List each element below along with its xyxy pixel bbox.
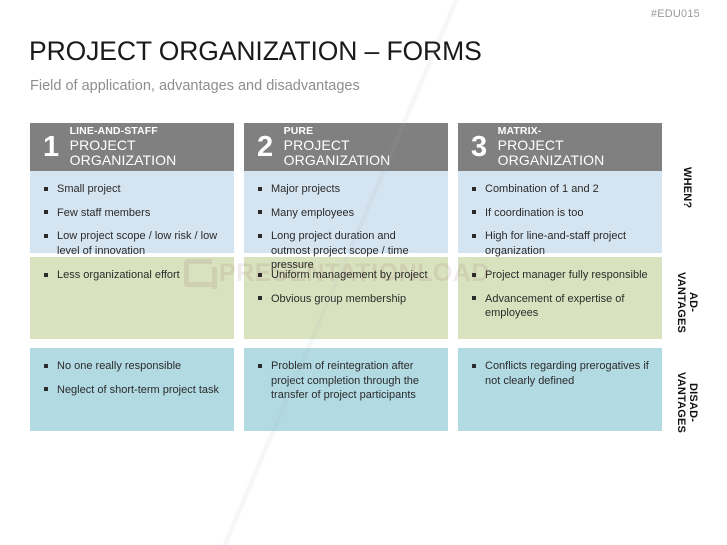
row-label-advantages-text: AD- VANTAGES xyxy=(674,272,698,333)
card-header-1: 1 LINE-AND-STAFF PROJECT ORGANIZATION xyxy=(30,123,234,171)
when-row: Small projectFew staff membersLow projec… xyxy=(30,171,662,253)
list-item: Combination of 1 and 2 xyxy=(470,182,650,197)
when-list-2: Major projectsMany employeesLong project… xyxy=(256,182,436,273)
list-item: Less organizational effort xyxy=(42,268,222,283)
column-2: 2 PURE PROJECT ORGANIZATION xyxy=(244,123,448,171)
disadvantages-list-2: Problem of reintegration after project c… xyxy=(256,359,436,403)
when-cell-1: Small projectFew staff membersLow projec… xyxy=(30,171,234,253)
slide-code: #EDU015 xyxy=(651,8,700,20)
disadvantages-cell-3: Conflicts regarding prerogatives if not … xyxy=(458,348,662,431)
when-list-3: Combination of 1 and 2If coordination is… xyxy=(470,182,650,258)
list-item: High for line-and-staff project organiza… xyxy=(470,229,650,258)
row-label-column: WHEN? AD- VANTAGES DISAD- VANTAGES xyxy=(666,123,706,449)
card-main-title-3: PROJECT ORGANIZATION xyxy=(498,138,662,168)
list-item: If coordination is too xyxy=(470,206,650,221)
list-item: Obvious group membership xyxy=(256,292,436,307)
comparison-grid: 1 LINE-AND-STAFF PROJECT ORGANIZATION 2 … xyxy=(30,123,662,431)
advantages-cell-3: Project manager fully responsibleAdvance… xyxy=(458,257,662,339)
disadvantages-row: No one really responsibleNeglect of shor… xyxy=(30,348,662,431)
slide: #EDU015 PROJECT ORGANIZATION – FORMS Fie… xyxy=(0,0,727,545)
disadvantages-list-1: No one really responsibleNeglect of shor… xyxy=(42,359,222,397)
list-item: Problem of reintegration after project c… xyxy=(256,359,436,403)
list-item: Uniform management by project xyxy=(256,268,436,283)
column-1: 1 LINE-AND-STAFF PROJECT ORGANIZATION xyxy=(30,123,234,171)
when-list-1: Small projectFew staff membersLow projec… xyxy=(42,182,222,258)
advantages-cell-2: Uniform management by projectObvious gro… xyxy=(244,257,448,339)
list-item: Long project duration and outmost projec… xyxy=(256,229,436,273)
card-kicker-3: MATRIX- xyxy=(498,126,662,137)
when-cell-2: Major projectsMany employeesLong project… xyxy=(244,171,448,253)
list-item: Few staff members xyxy=(42,206,222,221)
page-title: PROJECT ORGANIZATION – FORMS xyxy=(29,36,482,67)
card-kicker-2: PURE xyxy=(284,126,448,137)
list-item: Small project xyxy=(42,182,222,197)
list-item: Major projects xyxy=(256,182,436,197)
header-row: 1 LINE-AND-STAFF PROJECT ORGANIZATION 2 … xyxy=(30,123,662,171)
advantages-row: Less organizational effort Uniform manag… xyxy=(30,257,662,339)
card-number-1: 1 xyxy=(43,133,59,162)
disadvantages-cell-1: No one really responsibleNeglect of shor… xyxy=(30,348,234,431)
when-cell-3: Combination of 1 and 2If coordination is… xyxy=(458,171,662,253)
disadvantages-cell-2: Problem of reintegration after project c… xyxy=(244,348,448,431)
advantages-list-2: Uniform management by projectObvious gro… xyxy=(256,268,436,306)
card-number-3: 3 xyxy=(471,133,487,162)
list-item: Many employees xyxy=(256,206,436,221)
advantages-cell-1: Less organizational effort xyxy=(30,257,234,339)
row-label-disadvantages-text: DISAD- VANTAGES xyxy=(674,372,698,433)
column-3: 3 MATRIX- PROJECT ORGANIZATION xyxy=(458,123,662,171)
row-label-when-text: WHEN? xyxy=(680,167,692,208)
list-item: No one really responsible xyxy=(42,359,222,374)
row-label-advantages: AD- VANTAGES xyxy=(666,257,706,348)
advantages-list-3: Project manager fully responsibleAdvance… xyxy=(470,268,650,321)
row-label-when: WHEN? xyxy=(666,123,706,253)
card-header-2: 2 PURE PROJECT ORGANIZATION xyxy=(244,123,448,171)
card-main-title-1: PROJECT ORGANIZATION xyxy=(70,138,234,168)
card-header-3: 3 MATRIX- PROJECT ORGANIZATION xyxy=(458,123,662,171)
row-label-disadvantages: DISAD- VANTAGES xyxy=(666,357,706,449)
page-subtitle: Field of application, advantages and dis… xyxy=(30,78,360,94)
card-main-title-2: PROJECT ORGANIZATION xyxy=(284,138,448,168)
list-item: Advancement of expertise of employees xyxy=(470,292,650,321)
card-kicker-1: LINE-AND-STAFF xyxy=(70,126,234,137)
list-item: Conflicts regarding prerogatives if not … xyxy=(470,359,650,388)
list-item: Neglect of short-term project task xyxy=(42,383,222,398)
list-item: Project manager fully responsible xyxy=(470,268,650,283)
disadvantages-list-3: Conflicts regarding prerogatives if not … xyxy=(470,359,650,388)
advantages-list-1: Less organizational effort xyxy=(42,268,222,283)
card-number-2: 2 xyxy=(257,133,273,162)
list-item: Low project scope / low risk / low level… xyxy=(42,229,222,258)
